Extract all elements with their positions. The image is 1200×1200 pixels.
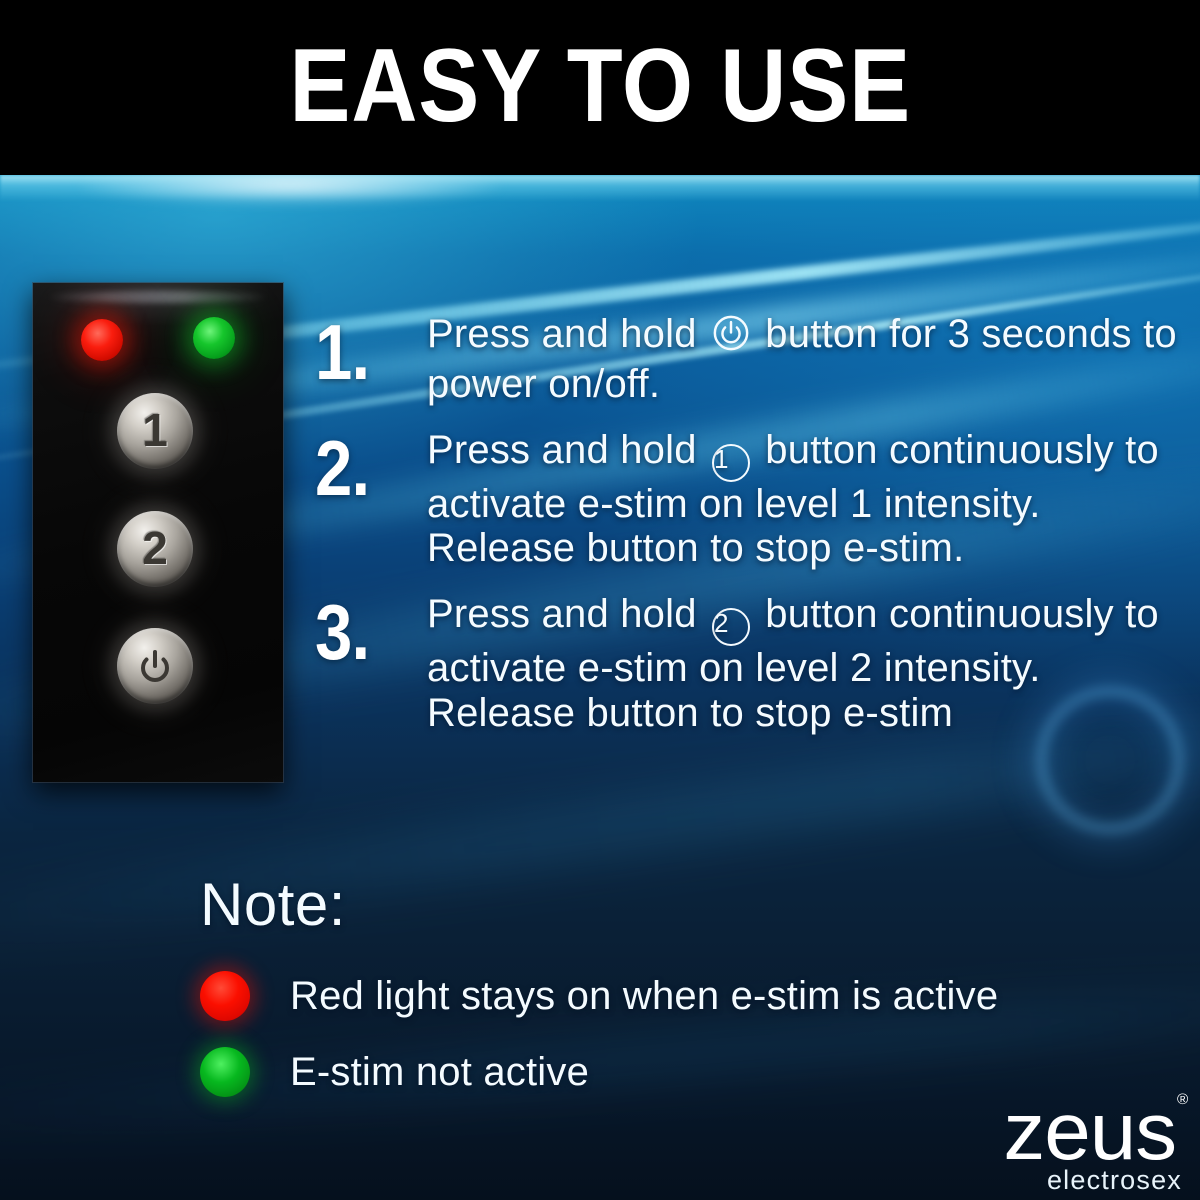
logo-wordmark-text: zeus — [1003, 1086, 1176, 1177]
header-band: EASY TO USE — [0, 0, 1200, 175]
control-panel: 1 2 — [33, 283, 283, 782]
note-item-green: E-stim not active — [200, 1047, 1060, 1097]
step-2-text: Press and hold 1 button continuously to … — [427, 426, 1195, 572]
button-2-label: 2 — [142, 525, 168, 571]
note-item-green-label: E-stim not active — [290, 1050, 589, 1094]
step-1-text-before: Press and hold — [427, 312, 697, 356]
step-3-number: 3. — [315, 590, 411, 669]
logo-wordmark: zeus® — [1003, 1094, 1186, 1169]
instruction-steps: 1. Press and hold button for 3 seconds t… — [315, 310, 1195, 755]
power-icon — [135, 647, 175, 687]
note-item-red-label: Red light stays on when e-stim is active — [290, 974, 998, 1018]
step-1: 1. Press and hold button for 3 seconds t… — [315, 310, 1195, 407]
step-3: 3. Press and hold 2 button continuously … — [315, 590, 1195, 736]
page-title: EASY TO USE — [289, 34, 911, 138]
background-stage: 1 2 1. Press and hold — [0, 175, 1200, 1200]
registered-trademark-icon: ® — [1177, 1091, 1187, 1108]
red-dot-icon — [200, 971, 250, 1021]
panel-sheen — [47, 291, 269, 303]
step-3-text-before: Press and hold — [427, 592, 697, 636]
brand-logo: zeus® electrosex — [1007, 1094, 1186, 1194]
power-button[interactable] — [117, 628, 193, 704]
circled-two-icon: 2 — [712, 608, 750, 646]
step-2: 2. Press and hold 1 button continuously … — [315, 426, 1195, 572]
note-section: Note: Red light stays on when e-stim is … — [200, 875, 1060, 1123]
button-1[interactable]: 1 — [117, 393, 193, 469]
button-2[interactable]: 2 — [117, 511, 193, 587]
step-1-number: 1. — [315, 310, 411, 389]
note-item-red: Red light stays on when e-stim is active — [200, 971, 1060, 1021]
green-dot-icon — [200, 1047, 250, 1097]
step-2-number: 2. — [315, 426, 411, 505]
green-led — [193, 317, 235, 359]
step-2-text-before: Press and hold — [427, 428, 697, 472]
button-1-label: 1 — [142, 407, 168, 453]
promo-graphic: EASY TO USE 1 2 — [0, 0, 1200, 1200]
step-1-text: Press and hold button for 3 seconds to p… — [427, 310, 1195, 407]
power-icon — [712, 314, 750, 362]
circled-one-icon: 1 — [712, 444, 750, 482]
step-3-text: Press and hold 2 button continuously to … — [427, 590, 1195, 736]
note-title: Note: — [200, 875, 1060, 935]
red-led — [81, 319, 123, 361]
